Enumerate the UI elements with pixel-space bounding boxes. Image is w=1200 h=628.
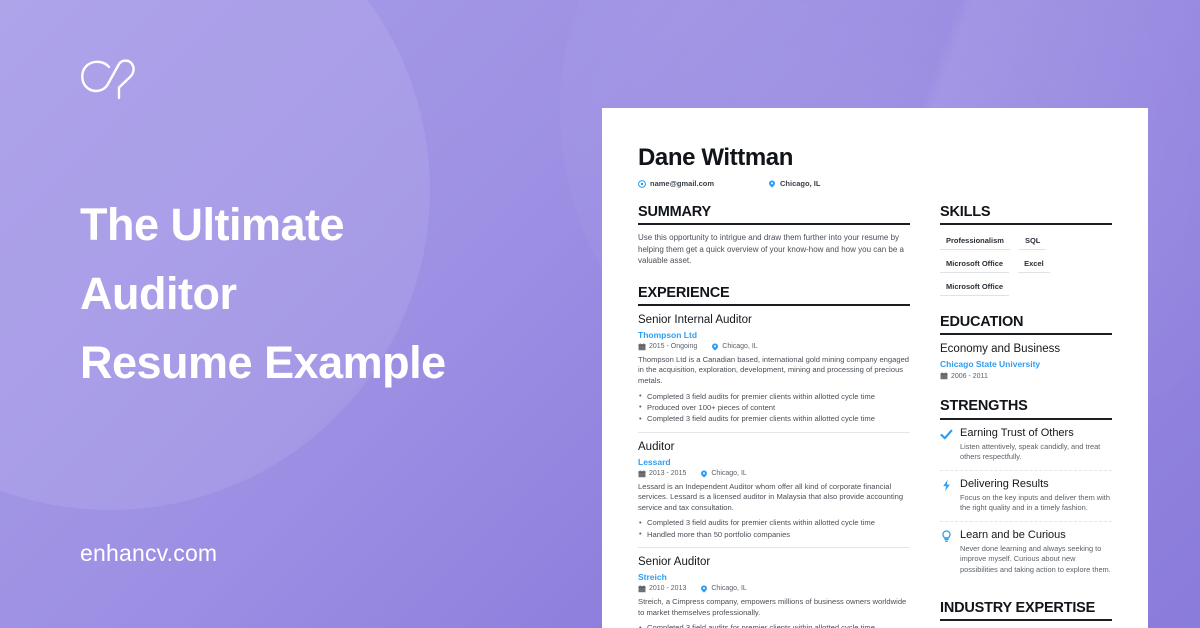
experience-heading: Experience (638, 285, 910, 301)
job-dates: 2010 - 2013 (638, 585, 686, 593)
lightbulb-icon (940, 529, 953, 575)
education-divider (940, 333, 1112, 335)
strength-description: Focus on the key inputs and deliver them… (960, 493, 1112, 513)
job-company: Streich (638, 572, 910, 582)
job-bullets: Completed 3 field audits for premier cli… (638, 517, 910, 540)
summary-section: Summary Use this opportunity to intrigue… (638, 204, 910, 267)
job-dates-text: 2013 - 2015 (649, 470, 686, 477)
education-school: Chicago State University (940, 359, 1112, 369)
job-meta: 2013 - 2015 Chicago, IL (638, 470, 910, 478)
job-location: Chicago, IL (700, 470, 746, 478)
skill-tag: Microsoft Office (940, 257, 1009, 273)
calendar-icon (638, 470, 646, 478)
promo-website[interactable]: enhancv.com (80, 540, 217, 567)
experience-entry: Senior Internal Auditor Thompson Ltd 201… (638, 314, 910, 433)
job-bullet: Produced over 100+ pieces of content (638, 402, 910, 413)
skill-tag: SQL (1019, 234, 1046, 250)
promo-headline: The Ultimate Auditor Resume Example (80, 190, 550, 397)
location-pin-icon (700, 470, 708, 478)
location-pin-icon (711, 343, 719, 351)
contact-location: Chicago, IL (768, 179, 820, 188)
calendar-icon (940, 372, 948, 380)
job-description: Thompson Ltd is a Canadian based, intern… (638, 355, 910, 387)
skills-row: Professionalism SQL (940, 234, 1112, 250)
job-title: Senior Internal Auditor (638, 314, 910, 328)
job-bullets: Completed 3 field audits for premier cli… (638, 391, 910, 425)
skills-row: Microsoft Office (940, 280, 1112, 296)
job-bullet: Completed 3 field audits for premier cli… (638, 413, 910, 424)
check-icon (940, 427, 953, 463)
job-bullet: Handled more than 50 portfolio companies (638, 529, 910, 540)
strength-description: Never done learning and always seeking t… (960, 544, 1112, 575)
calendar-icon (638, 343, 646, 351)
skill-tag: Excel (1018, 257, 1050, 273)
job-location-text: Chicago, IL (722, 343, 757, 350)
skills-list: Professionalism SQL Microsoft Office Exc… (940, 234, 1112, 296)
skills-row: Microsoft Office Excel (940, 257, 1112, 273)
skills-divider (940, 223, 1112, 225)
job-dates-text: 2015 - Ongoing (649, 343, 697, 350)
summary-divider (638, 223, 910, 225)
resume-candidate-name: Dane Wittman (638, 146, 1114, 170)
job-company: Thompson Ltd (638, 330, 910, 340)
summary-text: Use this opportunity to intrigue and dra… (638, 232, 910, 267)
job-location: Chicago, IL (700, 585, 746, 593)
job-bullet: Completed 3 field audits for premier cli… (638, 391, 910, 402)
location-pin-icon (700, 585, 708, 593)
job-location-text: Chicago, IL (711, 585, 746, 592)
email-icon (638, 180, 646, 188)
strength-body: Learn and be Curious Never done learning… (960, 529, 1112, 575)
experience-entry: Auditor Lessard 2013 - 2015 (638, 441, 910, 548)
resume-preview-card[interactable]: Dane Wittman name@gmail.com Chicago, IL … (602, 108, 1148, 628)
strength-item: Earning Trust of Others Listen attentive… (940, 420, 1112, 471)
job-meta: 2010 - 2013 Chicago, IL (638, 585, 910, 593)
contact-email: name@gmail.com (638, 179, 714, 188)
job-description: Streich, a Cimpress company, empowers mi… (638, 597, 910, 618)
contact-location-text: Chicago, IL (780, 179, 820, 188)
industry-expertise-divider (940, 619, 1112, 621)
job-title: Auditor (638, 441, 910, 455)
job-bullets: Completed 3 field audits for premier cli… (638, 622, 910, 628)
location-pin-icon (768, 180, 776, 188)
job-dates: 2015 - Ongoing (638, 343, 697, 351)
job-title: Senior Auditor (638, 556, 910, 570)
skill-tag: Microsoft Office (940, 280, 1009, 296)
promo-banner: The Ultimate Auditor Resume Example enha… (0, 0, 1200, 628)
industry-expertise-section: Industry Expertise (940, 600, 1112, 621)
strength-body: Delivering Results Focus on the key inpu… (960, 478, 1112, 514)
job-location-text: Chicago, IL (711, 470, 746, 477)
job-bullet: Completed 3 field audits for premier cli… (638, 517, 910, 528)
resume-contact-row: name@gmail.com Chicago, IL (638, 179, 1114, 188)
industry-expertise-heading: Industry Expertise (940, 600, 1112, 616)
job-meta: 2015 - Ongoing Chicago, IL (638, 343, 910, 351)
skill-tag: Professionalism (940, 234, 1010, 250)
resume-side-column: Skills Professionalism SQL Microsoft Off… (940, 204, 1112, 628)
job-location: Chicago, IL (711, 343, 757, 351)
education-heading: Education (940, 314, 1112, 330)
job-dates: 2013 - 2015 (638, 470, 686, 478)
resume-main-column: Summary Use this opportunity to intrigue… (638, 204, 910, 628)
job-company: Lessard (638, 457, 910, 467)
promo-panel: The Ultimate Auditor Resume Example enha… (0, 0, 600, 628)
education-degree: Economy and Business (940, 343, 1112, 357)
lightning-bolt-icon (940, 478, 953, 514)
strength-title: Delivering Results (960, 478, 1112, 491)
strengths-section: Strengths Earning Trust of Others Listen… (940, 398, 1112, 582)
strength-item: Learn and be Curious Never done learning… (940, 522, 1112, 582)
strength-title: Learn and be Curious (960, 529, 1112, 542)
strength-item: Delivering Results Focus on the key inpu… (940, 471, 1112, 522)
experience-entry: Senior Auditor Streich 2010 - 2013 (638, 556, 910, 628)
contact-email-text: name@gmail.com (650, 179, 714, 188)
job-bullet: Completed 3 field audits for premier cli… (638, 622, 910, 628)
resume-columns: Summary Use this opportunity to intrigue… (638, 204, 1114, 628)
summary-heading: Summary (638, 204, 910, 220)
strength-title: Earning Trust of Others (960, 427, 1112, 440)
strengths-heading: Strengths (940, 398, 1112, 414)
experience-section: Experience Senior Internal Auditor Thomp… (638, 285, 910, 628)
experience-divider (638, 304, 910, 306)
calendar-icon (638, 585, 646, 593)
education-dates-text: 2006 - 2011 (951, 373, 988, 380)
education-dates: 2006 - 2011 (940, 372, 1112, 380)
job-description: Lessard is an Independent Auditor whom o… (638, 482, 910, 514)
education-section: Education Economy and Business Chicago S… (940, 314, 1112, 380)
enhancv-infinity-logo-icon (78, 58, 136, 100)
strength-description: Listen attentively, speak candidly, and … (960, 442, 1112, 462)
skills-section: Skills Professionalism SQL Microsoft Off… (940, 204, 1112, 296)
skills-heading: Skills (940, 204, 1112, 220)
strength-body: Earning Trust of Others Listen attentive… (960, 427, 1112, 463)
job-dates-text: 2010 - 2013 (649, 585, 686, 592)
